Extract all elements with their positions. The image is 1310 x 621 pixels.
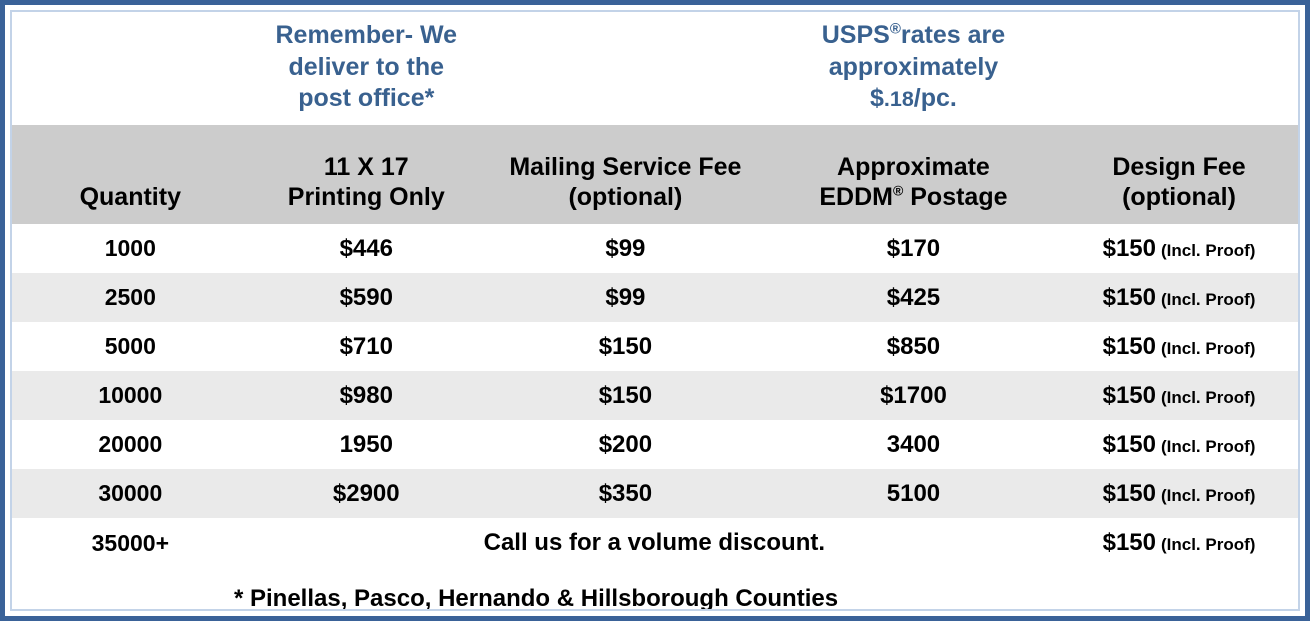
cell-mailing: $99 xyxy=(484,224,767,273)
promo-spacer-middle xyxy=(484,12,767,125)
promo-spacer-right xyxy=(1060,12,1298,125)
design-fee-note: (Incl. Proof) xyxy=(1161,486,1255,505)
column-header-printing-line-2: Printing Only xyxy=(253,183,480,213)
promo-delivery-line-2: deliver to the xyxy=(253,52,480,84)
table-row: 10000 $980 $150 $1700 $150(Incl. Proof) xyxy=(12,371,1298,420)
pricing-sheet: Remember- We deliver to the post office*… xyxy=(0,0,1310,621)
column-header-postage-line-1: Approximate xyxy=(771,153,1056,183)
promo-usps-line-1-rest: rates are xyxy=(901,21,1005,49)
promo-spacer-left xyxy=(12,12,249,125)
cell-printing: $710 xyxy=(249,322,484,371)
column-header-mailing-line-2: (optional) xyxy=(488,183,763,213)
cell-postage: $1700 xyxy=(767,371,1060,420)
column-header-design-fee: Design Fee (optional) xyxy=(1060,125,1298,224)
cell-printing: $2900 xyxy=(249,469,484,518)
promo-delivery-line-1: Remember- We xyxy=(253,20,480,52)
cell-printing: $590 xyxy=(249,273,484,322)
design-fee-amount: $150 xyxy=(1103,480,1156,507)
cell-quantity: 35000+ xyxy=(12,518,249,568)
volume-discount-message: Call us for a volume discount. xyxy=(249,518,1060,568)
column-header-printing-line-1: 11 X 17 xyxy=(253,153,480,183)
design-fee-note: (Incl. Proof) xyxy=(1161,535,1255,554)
column-header-design-line-2: (optional) xyxy=(1064,183,1294,213)
column-header-quantity-line-1: Quantity xyxy=(16,183,245,213)
cell-mailing: $200 xyxy=(484,420,767,469)
pricing-sheet-inner-frame: Remember- We deliver to the post office*… xyxy=(10,10,1300,611)
table-row: 30000 $2900 $350 5100 $150(Incl. Proof) xyxy=(12,469,1298,518)
column-header-mailing-service-fee: Mailing Service Fee (optional) xyxy=(484,125,767,224)
promo-banner-row: Remember- We deliver to the post office*… xyxy=(12,12,1298,125)
promo-usps-rates-note: USPS®rates are approximately $.18/pc. xyxy=(767,12,1060,125)
design-fee-amount: $150 xyxy=(1103,431,1156,458)
design-fee-note: (Incl. Proof) xyxy=(1161,290,1255,309)
footnote-text: * Pinellas, Pasco, Hernando & Hillsborou… xyxy=(12,568,1060,611)
cell-quantity: 1000 xyxy=(12,224,249,273)
design-fee-amount: $150 xyxy=(1103,529,1156,556)
registered-trademark-icon: ® xyxy=(893,182,903,198)
pricing-table: Remember- We deliver to the post office*… xyxy=(12,12,1298,611)
cell-design-fee: $150(Incl. Proof) xyxy=(1060,371,1298,420)
cell-postage: 3400 xyxy=(767,420,1060,469)
registered-trademark-icon: ® xyxy=(890,21,901,38)
column-header-design-line-1: Design Fee xyxy=(1064,153,1294,183)
promo-usps-line-1: USPS®rates are xyxy=(771,20,1056,52)
price-value: .18 xyxy=(884,87,914,111)
cell-printing: $980 xyxy=(249,371,484,420)
price-currency-symbol: $ xyxy=(870,84,884,112)
column-header-printing: 11 X 17 Printing Only xyxy=(249,125,484,224)
promo-delivery-line-3: post office* xyxy=(253,83,480,115)
cell-postage: $425 xyxy=(767,273,1060,322)
design-fee-amount: $150 xyxy=(1103,333,1156,360)
table-row: 5000 $710 $150 $850 $150(Incl. Proof) xyxy=(12,322,1298,371)
design-fee-note: (Incl. Proof) xyxy=(1161,437,1255,456)
design-fee-amount: $150 xyxy=(1103,284,1156,311)
table-header-row: Quantity 11 X 17 Printing Only Mailing S… xyxy=(12,125,1298,224)
cell-design-fee: $150(Incl. Proof) xyxy=(1060,224,1298,273)
cell-mailing: $350 xyxy=(484,469,767,518)
cell-mailing: $99 xyxy=(484,273,767,322)
column-header-mailing-line-1: Mailing Service Fee xyxy=(488,153,763,183)
cell-design-fee: $150(Incl. Proof) xyxy=(1060,420,1298,469)
footnote-row: * Pinellas, Pasco, Hernando & Hillsborou… xyxy=(12,568,1298,611)
column-header-postage-line-2: EDDM® Postage xyxy=(771,183,1056,213)
footnote-spacer xyxy=(1060,568,1298,611)
cell-mailing: $150 xyxy=(484,371,767,420)
cell-design-fee: $150(Incl. Proof) xyxy=(1060,322,1298,371)
promo-usps-price-line: $.18/pc. xyxy=(771,83,1056,115)
cell-quantity: 30000 xyxy=(12,469,249,518)
cell-mailing: $150 xyxy=(484,322,767,371)
column-header-eddm-postage: Approximate EDDM® Postage xyxy=(767,125,1060,224)
cell-design-fee: $150(Incl. Proof) xyxy=(1060,273,1298,322)
cell-postage: $170 xyxy=(767,224,1060,273)
cell-quantity: 2500 xyxy=(12,273,249,322)
column-header-quantity: Quantity xyxy=(12,125,249,224)
design-fee-note: (Incl. Proof) xyxy=(1161,388,1255,407)
cell-design-fee: $150(Incl. Proof) xyxy=(1060,469,1298,518)
table-row: 20000 1950 $200 3400 $150(Incl. Proof) xyxy=(12,420,1298,469)
cell-printing: 1950 xyxy=(249,420,484,469)
cell-quantity: 5000 xyxy=(12,322,249,371)
table-row: 2500 $590 $99 $425 $150(Incl. Proof) xyxy=(12,273,1298,322)
promo-delivery-note: Remember- We deliver to the post office* xyxy=(249,12,484,125)
table-row: 1000 $446 $99 $170 $150(Incl. Proof) xyxy=(12,224,1298,273)
cell-printing: $446 xyxy=(249,224,484,273)
cell-postage: $850 xyxy=(767,322,1060,371)
cell-quantity: 10000 xyxy=(12,371,249,420)
cell-postage: 5100 xyxy=(767,469,1060,518)
promo-usps-line-2: approximately xyxy=(771,52,1056,84)
design-fee-note: (Incl. Proof) xyxy=(1161,339,1255,358)
design-fee-note: (Incl. Proof) xyxy=(1161,241,1255,260)
cell-design-fee: $150(Incl. Proof) xyxy=(1060,518,1298,568)
price-unit: /pc. xyxy=(914,84,957,112)
design-fee-amount: $150 xyxy=(1103,382,1156,409)
volume-discount-row: 35000+ Call us for a volume discount. $1… xyxy=(12,518,1298,568)
design-fee-amount: $150 xyxy=(1103,235,1156,262)
cell-quantity: 20000 xyxy=(12,420,249,469)
usps-brand-label: USPS xyxy=(822,21,890,49)
